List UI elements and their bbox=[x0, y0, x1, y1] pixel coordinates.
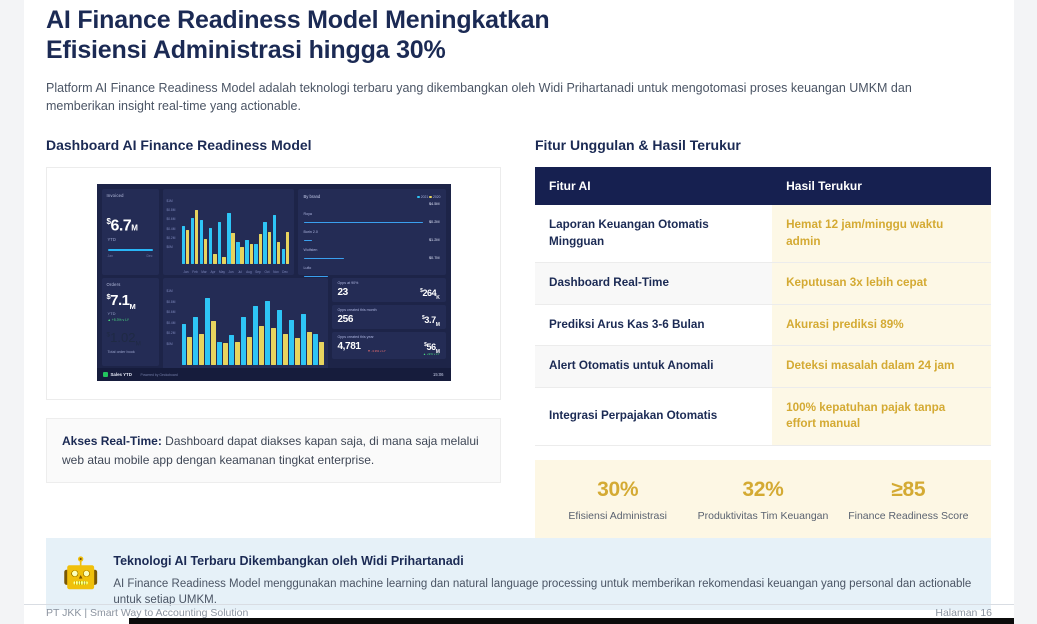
bar-series-2 bbox=[250, 244, 253, 264]
bar-group bbox=[282, 198, 290, 264]
column-header-result: Hasil Terukur bbox=[772, 167, 991, 205]
dashboard-screenshot: Invoiced $6.7M YTD Jan Dec $1M$0.8M$0.6M… bbox=[97, 184, 451, 381]
opps-delta-amount: ▲ +9% v LY bbox=[423, 352, 440, 356]
bar-group bbox=[273, 198, 281, 264]
axis-tick-label: May bbox=[218, 270, 227, 274]
bar-series-1 bbox=[182, 324, 187, 365]
cell-feature: Alert Otomatis untuk Anomali bbox=[535, 346, 772, 388]
bar-series-1 bbox=[301, 314, 306, 365]
table-row: Prediksi Arus Kas 3-6 BulanAkurasi predi… bbox=[535, 304, 991, 346]
axis-tick-label: Sep bbox=[254, 270, 263, 274]
bar-series-2 bbox=[283, 334, 288, 365]
bar-group bbox=[217, 287, 228, 365]
stat-value: ≥85 bbox=[836, 478, 981, 502]
axis-tick-label: $0M bbox=[167, 339, 176, 350]
features-table: Fitur AI Hasil Terukur Laporan Keuangan … bbox=[535, 167, 991, 446]
bar-series-1 bbox=[265, 301, 270, 365]
legend-swatch-2 bbox=[429, 196, 432, 199]
invoiced-number: 6.7 bbox=[110, 217, 131, 234]
bar-series-1 bbox=[245, 240, 248, 264]
bar-series-2 bbox=[240, 247, 243, 264]
order-book-caption: Total order book bbox=[108, 350, 135, 354]
orders-value: $7.1M bbox=[107, 292, 136, 311]
bar-series-1 bbox=[263, 222, 266, 264]
bar-group bbox=[263, 198, 271, 264]
invoiced-label: Invoiced bbox=[107, 193, 124, 198]
stat-item: ≥85 Finance Readiness Score bbox=[836, 478, 981, 524]
bar-group bbox=[236, 198, 244, 264]
legend-label-2: 2020 bbox=[433, 195, 441, 199]
opps-currency: $ bbox=[422, 315, 424, 321]
order-book-number: 1.02 bbox=[110, 330, 135, 345]
brand-value: $0.7M bbox=[429, 256, 440, 260]
opps-currency: $ bbox=[420, 288, 422, 294]
axis-tick-label: $0.8M bbox=[167, 206, 176, 215]
stat-value: 32% bbox=[690, 478, 835, 502]
note-label: Akses Real-Time: bbox=[62, 434, 162, 448]
bar-series-1 bbox=[241, 317, 246, 365]
bar-series-2 bbox=[187, 337, 192, 365]
bar-series-1 bbox=[229, 335, 234, 365]
bar-group bbox=[313, 287, 324, 365]
bar-series-2 bbox=[222, 257, 225, 264]
bar-group bbox=[182, 198, 190, 264]
bar-group bbox=[227, 198, 235, 264]
bar-group bbox=[229, 287, 240, 365]
column-header-feature: Fitur AI bbox=[535, 167, 772, 205]
table-header-row: Fitur AI Hasil Terukur bbox=[535, 167, 991, 205]
bar-group bbox=[205, 287, 216, 365]
opps-title: Opps created this month bbox=[338, 308, 377, 312]
page-title-line-2: Efisiensi Administrasi hingga 30% bbox=[46, 35, 991, 65]
axis-tick-label: $0.2M bbox=[167, 234, 176, 243]
brand-name: Lufio bbox=[304, 266, 312, 270]
bar-series-2 bbox=[307, 332, 312, 365]
bar-series-1 bbox=[254, 244, 257, 264]
brand-value: $4.5M bbox=[429, 202, 440, 206]
features-table-body: Laporan Keuangan Otomatis MingguanHemat … bbox=[535, 205, 991, 445]
stats-strip: 30% Efisiensi Administrasi 32% Produktiv… bbox=[535, 460, 991, 544]
callout-text: Teknologi AI Terbaru Dikembangkan oleh W… bbox=[113, 548, 975, 600]
invoiced-chart-plot bbox=[182, 198, 290, 264]
axis-tick-label: Jul bbox=[236, 270, 245, 274]
invoiced-chart-xaxis: JanFebMarAprMayJunJulAugSepOctNovDec bbox=[182, 270, 290, 274]
dashboard-powered-by: Powered by Geckoboard bbox=[141, 373, 178, 377]
stat-caption: Efisiensi Administrasi bbox=[545, 509, 690, 524]
axis-tick-label: Feb bbox=[191, 270, 200, 274]
bar-series-2 bbox=[247, 337, 252, 365]
table-row: Laporan Keuangan Otomatis MingguanHemat … bbox=[535, 205, 991, 263]
bar-series-1 bbox=[273, 215, 276, 264]
bar-series-1 bbox=[277, 310, 282, 365]
axis-tick-label: $0.8M bbox=[167, 297, 176, 308]
page-title: AI Finance Readiness Model Meningkatkan … bbox=[46, 0, 991, 65]
bar-series-2 bbox=[213, 254, 216, 264]
stat-caption: Finance Readiness Score bbox=[836, 509, 981, 524]
orders-delta: ▲ +5.3% v LY bbox=[108, 318, 129, 322]
bar-series-1 bbox=[191, 218, 194, 264]
opps-card: Opps created this year4,781$56M▼ -3.9% v… bbox=[332, 332, 446, 359]
orders-period: YTD bbox=[108, 311, 116, 316]
opps-card: Opps created this month256$3.7M bbox=[332, 305, 446, 329]
bar-series-1 bbox=[209, 228, 212, 264]
invoiced-spark-right: Dec bbox=[146, 254, 152, 258]
bar-group bbox=[254, 198, 262, 264]
axis-tick-label: $0.4M bbox=[167, 225, 176, 234]
cell-result: Hemat 12 jam/minggu waktu admin bbox=[772, 205, 991, 263]
orders-chart-plot bbox=[182, 287, 324, 365]
orders-label: Orders bbox=[107, 282, 121, 287]
opps-unit: K bbox=[436, 295, 439, 301]
opps-card: Opps at 90%23$264K bbox=[332, 278, 446, 302]
realtime-access-note: Akses Real-Time: Dashboard dapat diakses… bbox=[46, 418, 501, 483]
orders-unit: M bbox=[130, 302, 136, 311]
slide-content: AI Finance Readiness Model Meningkatkan … bbox=[24, 0, 1013, 544]
bar-series-1 bbox=[200, 220, 203, 264]
table-row: Alert Otomatis untuk AnomaliDeteksi masa… bbox=[535, 346, 991, 388]
bar-group bbox=[241, 287, 252, 365]
axis-tick-label: $1M bbox=[167, 286, 176, 297]
bar-group bbox=[200, 198, 208, 264]
axis-tick-label: $0.6M bbox=[167, 215, 176, 224]
bar-series-1 bbox=[217, 342, 222, 365]
opps-amount: $264K bbox=[420, 288, 439, 301]
bar-series-2 bbox=[286, 232, 289, 264]
axis-tick-label: Jun bbox=[227, 270, 236, 274]
axis-tick-label: $0.2M bbox=[167, 328, 176, 339]
bar-series-1 bbox=[236, 242, 239, 264]
left-section-title: Dashboard AI Finance Readiness Model bbox=[46, 137, 501, 153]
opps-title: Opps created this year bbox=[338, 335, 374, 339]
bar-series-2 bbox=[277, 242, 280, 264]
bar-series-2 bbox=[268, 232, 271, 264]
page-footer: PT JKK | Smart Way to Accounting Solutio… bbox=[24, 604, 1014, 624]
orders-chart-yaxis: $1M$0.8M$0.6M$0.4M$0.2M$0M bbox=[167, 286, 176, 350]
invoiced-unit: M bbox=[131, 223, 137, 232]
by-brand-panel: By brand 2021 2020 Roya$4.5MBorin 2.0$0.… bbox=[298, 189, 446, 275]
bar-series-1 bbox=[282, 249, 285, 264]
bar-group bbox=[191, 198, 199, 264]
cell-result: Keputusan 3x lebih cepat bbox=[772, 263, 991, 305]
axis-tick-label: Nov bbox=[272, 270, 281, 274]
intro-paragraph: Platform AI Finance Readiness Model adal… bbox=[46, 79, 981, 115]
brand-row: Lufio$0.7M bbox=[304, 256, 440, 277]
bar-group bbox=[301, 287, 312, 365]
dashboard-image-card: Invoiced $6.7M YTD Jan Dec $1M$0.8M$0.6M… bbox=[46, 167, 501, 400]
axis-tick-label: Apr bbox=[209, 270, 218, 274]
legend-swatch-1 bbox=[417, 196, 420, 199]
stat-caption: Produktivitas Tim Keuangan bbox=[690, 509, 835, 524]
bar-series-2 bbox=[195, 210, 198, 264]
axis-tick-label: Jan bbox=[182, 270, 191, 274]
bar-series-1 bbox=[193, 317, 198, 365]
stat-item: 30% Efisiensi Administrasi bbox=[545, 478, 690, 524]
orders-kpi-panel: Orders $7.1M YTD ▲ +5.3% v LY $1.02M Tot… bbox=[102, 278, 159, 366]
axis-tick-label: Aug bbox=[245, 270, 254, 274]
cell-result: Deteksi masalah dalam 24 jam bbox=[772, 346, 991, 388]
bar-series-1 bbox=[227, 213, 230, 264]
axis-tick-label: Oct bbox=[263, 270, 272, 274]
bar-series-2 bbox=[319, 342, 324, 365]
bar-group bbox=[289, 287, 300, 365]
two-column-layout: Dashboard AI Finance Readiness Model Inv… bbox=[46, 137, 991, 544]
cell-feature: Prediksi Arus Kas 3-6 Bulan bbox=[535, 304, 772, 346]
bar-group bbox=[253, 287, 264, 365]
bar-group bbox=[209, 198, 217, 264]
cell-result: 100% kepatuhan pajak tanpa effort manual bbox=[772, 387, 991, 445]
bar-series-2 bbox=[259, 234, 262, 264]
bar-series-2 bbox=[231, 233, 234, 264]
bar-series-2 bbox=[235, 342, 240, 365]
brand-name: Borin 2.0 bbox=[304, 230, 318, 234]
footer-black-bar bbox=[129, 618, 1014, 624]
callout-title: Teknologi AI Terbaru Dikembangkan oleh W… bbox=[113, 554, 975, 568]
invoiced-chart-bars bbox=[182, 198, 290, 264]
axis-tick-label: $0.4M bbox=[167, 318, 176, 329]
invoiced-value: $6.7M bbox=[107, 217, 138, 235]
bar-series-1 bbox=[253, 306, 258, 365]
right-section-title: Fitur Unggulan & Hasil Terukur bbox=[535, 137, 991, 153]
axis-tick-label: $0M bbox=[167, 243, 176, 252]
stat-item: 32% Produktivitas Tim Keuangan bbox=[690, 478, 835, 524]
opps-count: 4,781 bbox=[338, 341, 361, 352]
dashboard-footer-bar: Sales YTD Powered by Geckoboard 15:06 bbox=[97, 368, 451, 381]
right-column: Fitur Unggulan & Hasil Terukur Fitur AI … bbox=[535, 137, 991, 544]
opps-delta-count: ▼ -3.9% v LY bbox=[368, 349, 386, 353]
orders-chart-bars bbox=[182, 287, 324, 365]
stat-value: 30% bbox=[545, 478, 690, 502]
bar-series-2 bbox=[199, 334, 204, 365]
opps-title: Opps at 90% bbox=[338, 281, 359, 285]
brand-name: Roya bbox=[304, 212, 312, 216]
brand-value: $1.2M bbox=[429, 238, 440, 242]
bar-series-2 bbox=[223, 343, 228, 365]
cell-feature: Integrasi Perpajakan Otomatis bbox=[535, 387, 772, 445]
bar-group bbox=[193, 287, 204, 365]
opps-count: 23 bbox=[338, 287, 348, 298]
orders-bar-chart: $1M$0.8M$0.6M$0.4M$0.2M$0M JanFebMarAprM… bbox=[163, 278, 328, 376]
axis-tick-label: Mar bbox=[200, 270, 209, 274]
opps-unit: M bbox=[436, 322, 440, 328]
axis-tick-label: $1M bbox=[167, 197, 176, 206]
dashboard-time: 15:06 bbox=[433, 372, 443, 377]
bar-series-1 bbox=[205, 298, 210, 365]
bar-series-1 bbox=[218, 222, 221, 264]
table-row: Dashboard Real-TimeKeputusan 3x lebih ce… bbox=[535, 263, 991, 305]
bar-series-2 bbox=[271, 328, 276, 365]
bar-group bbox=[277, 287, 288, 365]
cell-feature: Laporan Keuangan Otomatis Mingguan bbox=[535, 205, 772, 263]
order-book-unit: M bbox=[135, 341, 140, 348]
cell-result: Akurasi prediksi 89% bbox=[772, 304, 991, 346]
brand-name: Wolfsten bbox=[304, 248, 318, 252]
bar-group bbox=[245, 198, 253, 264]
page-title-line-1: AI Finance Readiness Model Meningkatkan bbox=[46, 6, 549, 34]
invoiced-kpi-panel: Invoiced $6.7M YTD Jan Dec bbox=[102, 189, 159, 275]
features-table-head: Fitur AI Hasil Terukur bbox=[535, 167, 991, 205]
order-book-value: $1.02M bbox=[107, 330, 141, 348]
dashboard-logo-icon bbox=[103, 372, 108, 377]
invoiced-period: YTD bbox=[108, 237, 116, 242]
opps-amount: $3.7M bbox=[422, 315, 439, 328]
bar-series-2 bbox=[211, 321, 216, 365]
bar-group bbox=[265, 287, 276, 365]
chart-legend-top: 2021 2020 bbox=[417, 195, 440, 199]
dashboard-name: Sales YTD bbox=[111, 372, 132, 377]
axis-tick-label: $0.6M bbox=[167, 307, 176, 318]
axis-tick-label: Dec bbox=[281, 270, 290, 274]
bar-series-2 bbox=[204, 239, 207, 264]
orders-number: 7.1 bbox=[110, 292, 129, 309]
invoiced-spark-left: Jan bbox=[108, 254, 113, 258]
invoiced-sparkline bbox=[108, 249, 153, 251]
bar-series-2 bbox=[186, 230, 189, 264]
bar-group bbox=[218, 198, 226, 264]
left-column: Dashboard AI Finance Readiness Model Inv… bbox=[46, 137, 501, 544]
robot-icon: 🤖 bbox=[62, 557, 99, 591]
invoiced-chart-yaxis: $1M$0.8M$0.6M$0.4M$0.2M$0M bbox=[167, 197, 176, 252]
opps-count: 256 bbox=[338, 314, 354, 325]
ai-technology-callout: 🤖 Teknologi AI Terbaru Dikembangkan oleh… bbox=[46, 538, 991, 610]
brand-bar bbox=[304, 276, 328, 278]
bar-series-2 bbox=[259, 326, 264, 365]
opps-currency: $ bbox=[424, 342, 426, 348]
brand-value: $0.2M bbox=[429, 220, 440, 224]
by-brand-title: By brand bbox=[304, 194, 321, 199]
invoiced-bar-chart: $1M$0.8M$0.6M$0.4M$0.2M$0M JanFebMarAprM… bbox=[163, 189, 294, 275]
bar-series-1 bbox=[289, 320, 294, 365]
legend-label-1: 2021 bbox=[421, 195, 429, 199]
table-row: Integrasi Perpajakan Otomatis100% kepatu… bbox=[535, 387, 991, 445]
bar-series-1 bbox=[182, 226, 185, 264]
cell-feature: Dashboard Real-Time bbox=[535, 263, 772, 305]
bar-group bbox=[182, 287, 193, 365]
bar-series-1 bbox=[313, 334, 318, 365]
slide-page: AI Finance Readiness Model Meningkatkan … bbox=[0, 0, 1037, 624]
bar-series-2 bbox=[295, 338, 300, 365]
